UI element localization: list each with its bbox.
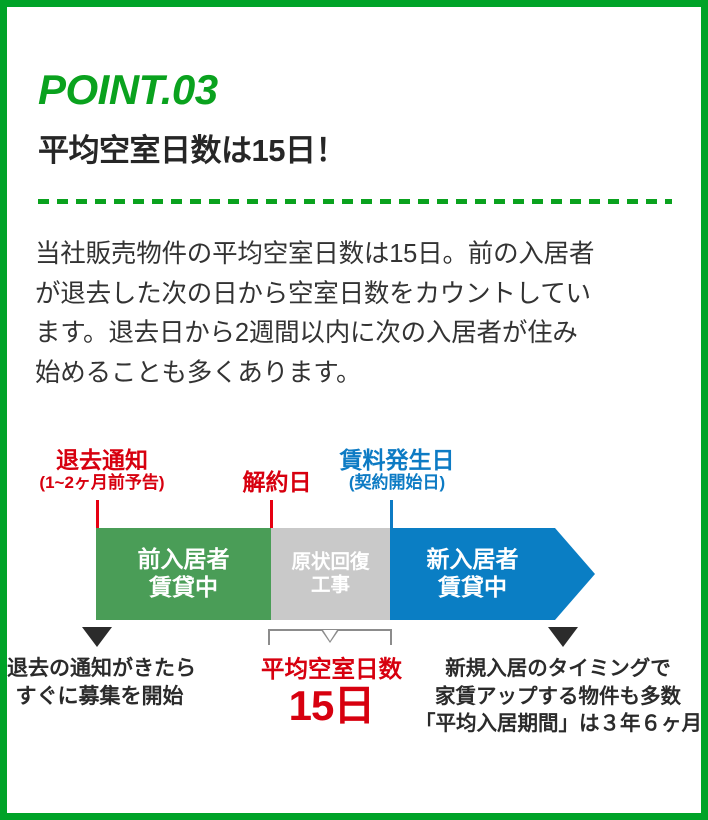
note-left-line1: 退去の通知がきたら (7, 655, 192, 683)
triangle-down-icon-left (82, 627, 112, 647)
note-left: 退去の通知がきたら すぐに募集を開始 (7, 655, 192, 712)
note-right-line3: 「平均入居期間」は３年６ヶ月 (415, 710, 701, 738)
marker-main-3: 賃料発生日 (307, 447, 487, 473)
segment-label-previous-tenant-line2: 賃貸中 (149, 574, 218, 602)
average-vacancy-value: 15日 (250, 683, 413, 729)
segment-label-restoration-work: 原状回復 工事 (271, 528, 390, 620)
note-right: 新規入居のタイミングで 家賃アップする物件も多数 「平均入居期間」は３年６ヶ月 (415, 655, 701, 738)
note-left-line2: すぐに募集を開始 (7, 683, 192, 711)
segment-label-restoration-work-line2: 工事 (311, 574, 350, 597)
bracket-left-arm (268, 629, 270, 645)
bracket-notch-icon (321, 630, 339, 643)
marker-sub-3: (契約開始日) (307, 473, 487, 493)
note-right-line1: 新規入居のタイミングで (415, 655, 701, 683)
segment-label-new-tenant: 新入居者 賃貸中 (390, 528, 555, 620)
timeline-diagram: 退去通知 (1~2ヶ月前予告) 解約日 賃料発生日 (契約開始日) 前入居者 賃… (7, 7, 701, 813)
average-vacancy-caption: 平均空室日数 (250, 655, 413, 683)
content-card: POINT.03 平均空室日数は15日！ 当社販売物件の平均空室日数は15日。前… (7, 7, 701, 813)
marker-sub-1: (1~2ヶ月前予告) (7, 473, 197, 493)
segment-label-new-tenant-line2: 賃貸中 (438, 574, 507, 602)
marker-main-1: 退去通知 (7, 447, 197, 473)
timeline-arrow-tip-icon (555, 528, 595, 620)
segment-label-previous-tenant: 前入居者 賃貸中 (96, 528, 271, 620)
bracket-right-arm (390, 629, 392, 645)
segment-label-restoration-work-line1: 原状回復 (291, 551, 369, 574)
note-center-average-vacancy: 平均空室日数 15日 (250, 655, 413, 729)
note-right-line2: 家賃アップする物件も多数 (415, 683, 701, 711)
triangle-down-icon-right (548, 627, 578, 647)
segment-label-new-tenant-line1: 新入居者 (427, 546, 519, 574)
segment-label-previous-tenant-line1: 前入居者 (138, 546, 230, 574)
marker-label-move-out-notice: 退去通知 (1~2ヶ月前予告) (7, 447, 197, 493)
marker-label-rent-start-date: 賃料発生日 (契約開始日) (307, 447, 487, 493)
bracket-notch-inner (323, 630, 337, 641)
